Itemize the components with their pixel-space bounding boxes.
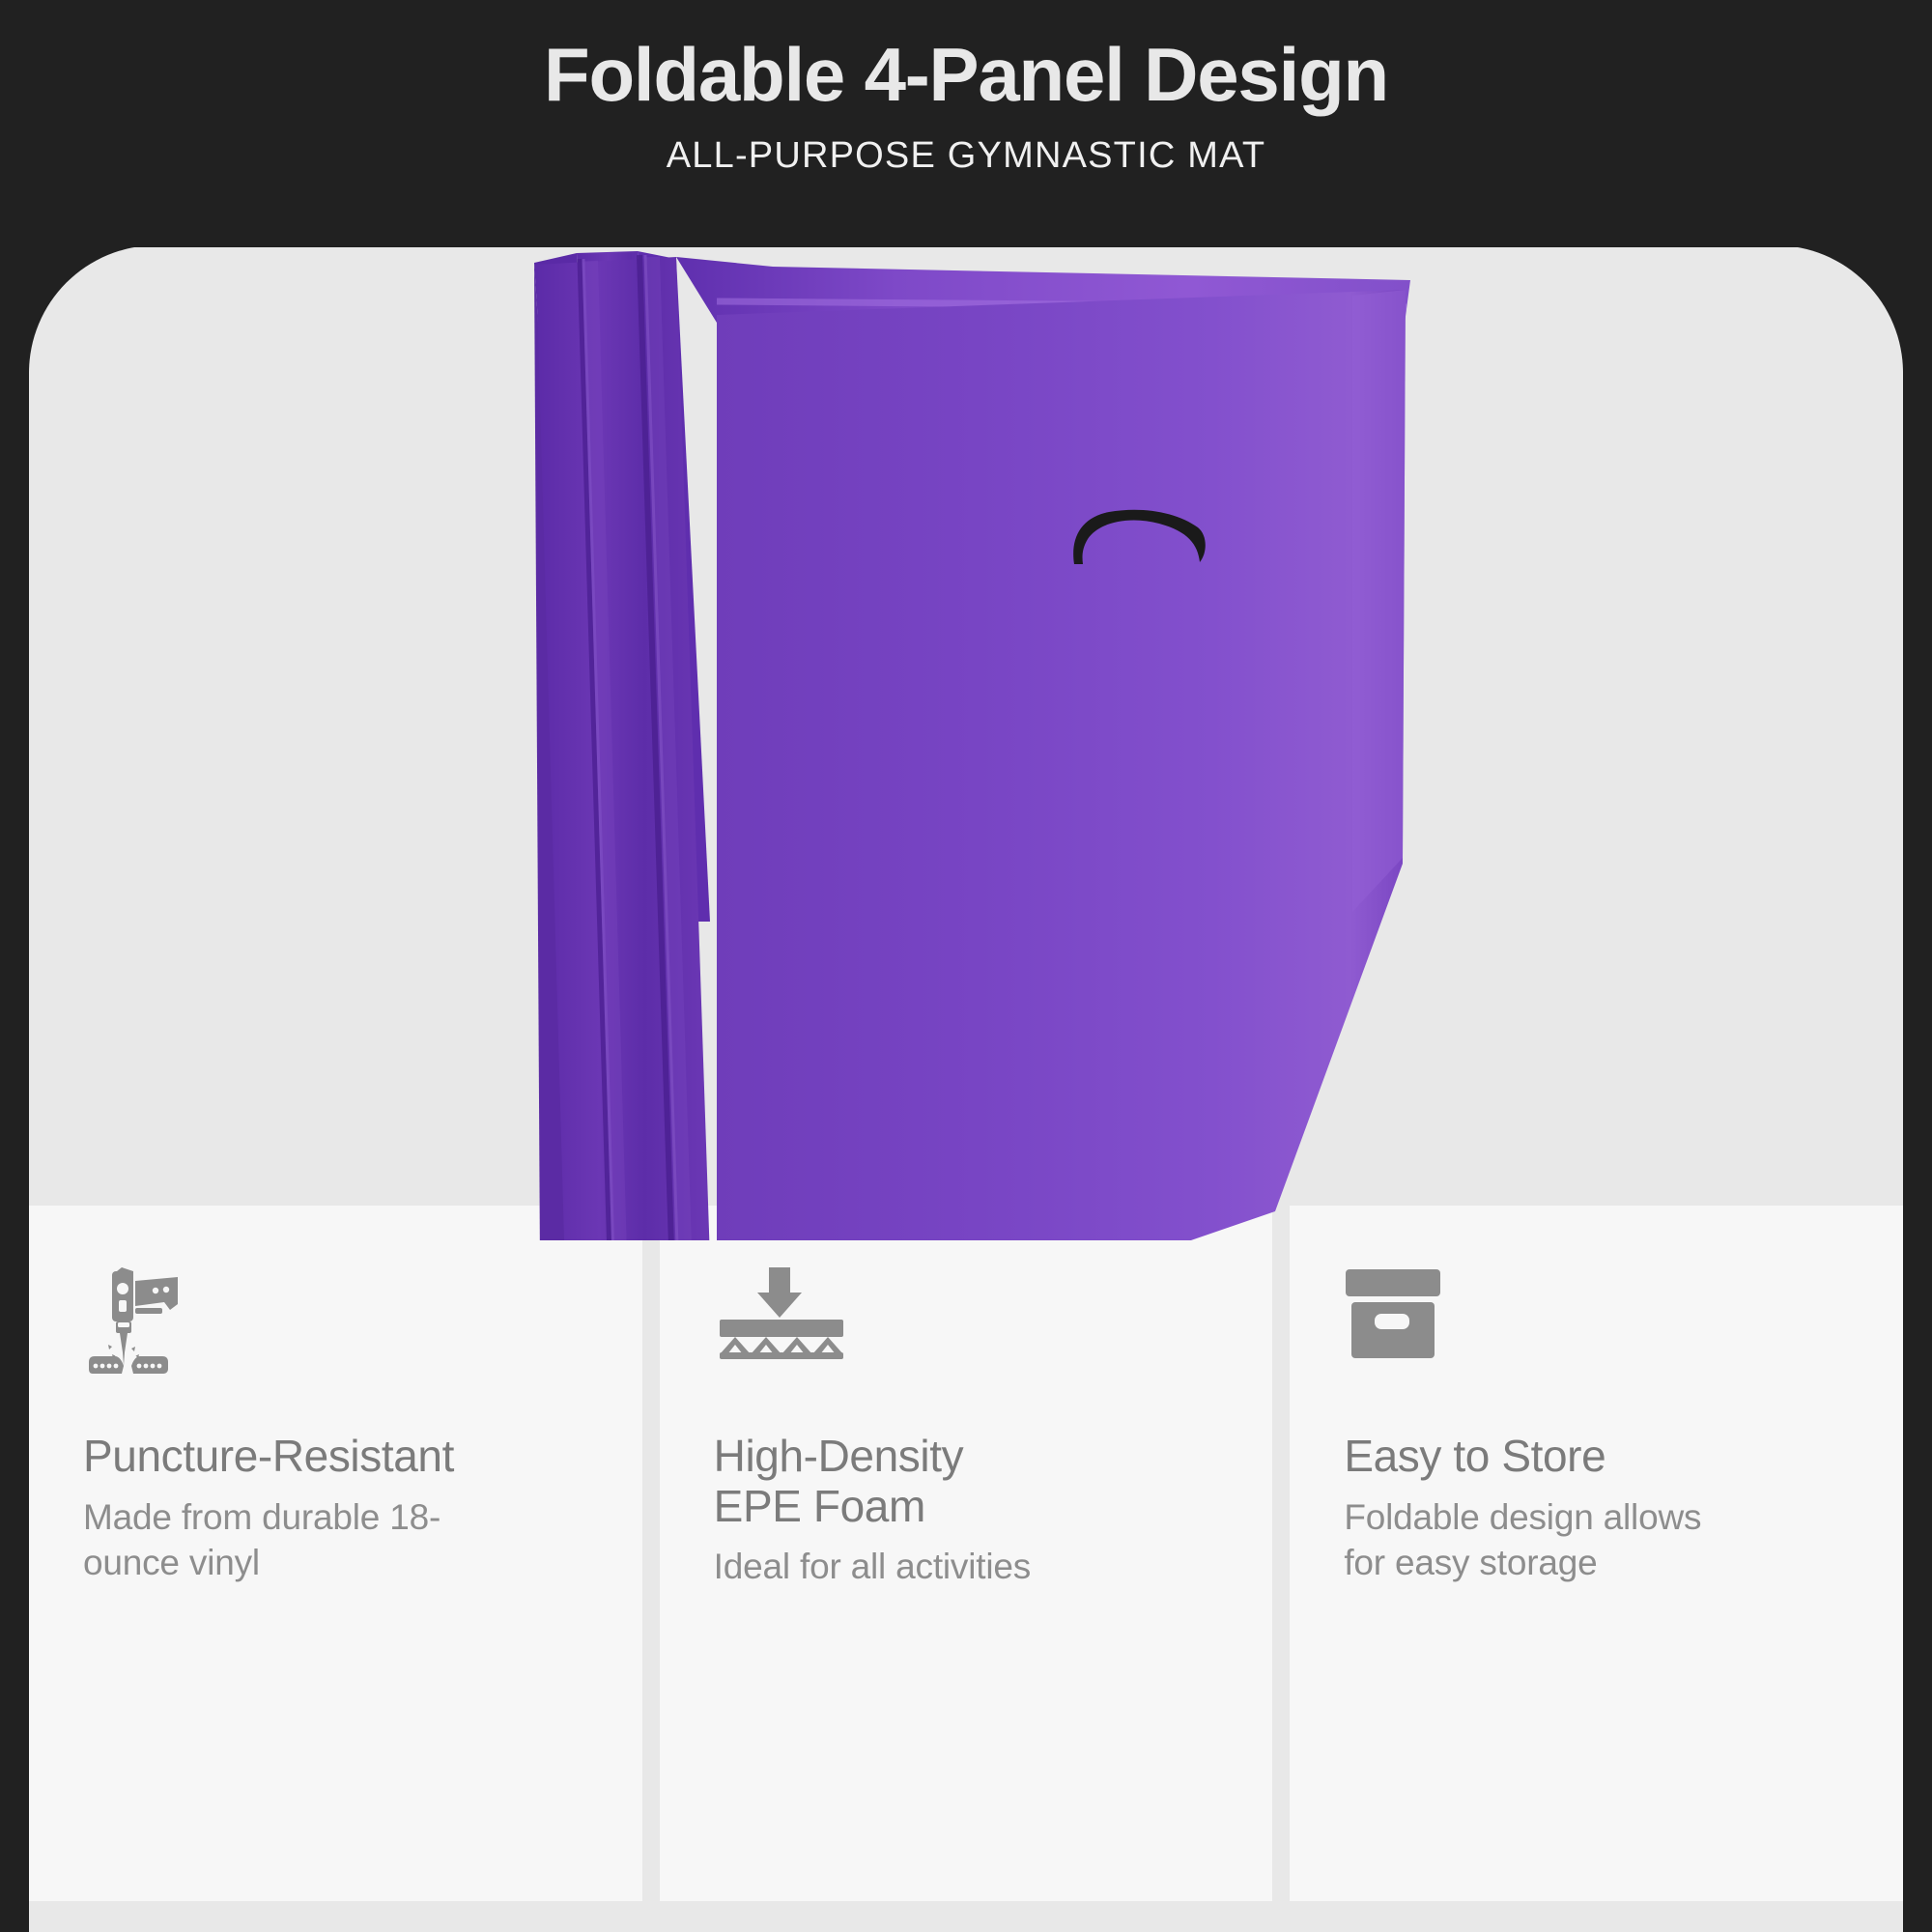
feature-card-high-density-epe-foam: High-Density EPE Foam Ideal for all acti…	[660, 1206, 1273, 1901]
arrow-press-foam-layer-icon	[714, 1265, 849, 1362]
storage-box-icon	[1344, 1265, 1442, 1362]
card-icon-slot	[714, 1265, 1219, 1379]
feature-cards: Puncture-Resistant Made from durable 18-…	[29, 1206, 1903, 1901]
card-icon-slot	[1344, 1265, 1849, 1379]
card-description: Foldable design allows for easy storage	[1344, 1495, 1730, 1586]
page-title: Foldable 4-Panel Design	[0, 0, 1932, 121]
panel-bottom-strip	[29, 1901, 1903, 1932]
card-title: Puncture-Resistant	[83, 1432, 588, 1482]
feature-card-easy-to-store: Easy to Store Foldable design allows for…	[1290, 1206, 1903, 1901]
card-icon-slot	[83, 1265, 588, 1379]
drill-puncture-icon	[83, 1265, 197, 1379]
card-title: High-Density EPE Foam	[714, 1432, 1219, 1531]
page-subtitle: ALL-PURPOSE GYMNASTIC MAT	[0, 121, 1932, 179]
card-title: Easy to Store	[1344, 1432, 1849, 1482]
infographic-root: Foldable 4-Panel Design ALL-PURPOSE GYMN…	[0, 0, 1932, 1932]
feature-card-puncture-resistant: Puncture-Resistant Made from durable 18-…	[29, 1206, 642, 1901]
header-band: Foldable 4-Panel Design ALL-PURPOSE GYMN…	[0, 0, 1932, 247]
card-description: Made from durable 18-ounce vinyl	[83, 1495, 498, 1586]
card-description: Ideal for all activities	[714, 1545, 1158, 1590]
